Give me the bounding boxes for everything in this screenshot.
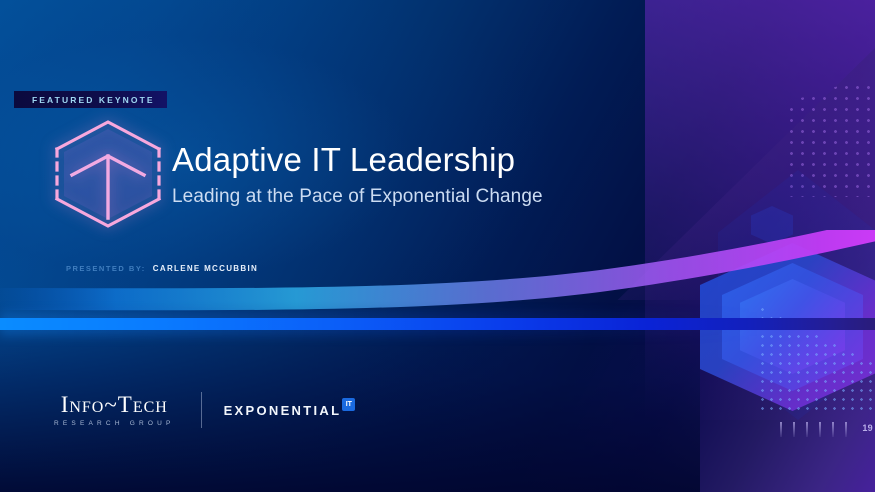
page-title: Adaptive IT Leadership xyxy=(172,143,642,178)
vertical-divider xyxy=(201,392,202,428)
horizontal-accent-band xyxy=(0,318,875,330)
presented-by-label: PRESENTED BY: xyxy=(66,264,146,273)
info-tech-logo-wordmark: Info~Tech xyxy=(61,393,168,416)
page-subtitle: Leading at the Pace of Exponential Chang… xyxy=(172,186,642,208)
tick-mark xyxy=(819,422,821,437)
info-tech-logo: Info~Tech RESEARCH GROUP xyxy=(54,393,175,427)
exponential-it-badge: IT xyxy=(342,398,355,411)
exponential-wordmark: EXPONENTIAL xyxy=(224,403,342,418)
presenter-name: CARLENE MCCUBBIN xyxy=(153,264,258,273)
tick-mark xyxy=(780,422,782,437)
presenter-line: PRESENTED BY: CARLENE MCCUBBIN xyxy=(66,264,258,273)
tick-mark xyxy=(832,422,834,437)
tick-marks xyxy=(780,422,847,437)
keynote-title-slide: #0a6ef0 0 FEATURED KEYNOTE xyxy=(0,0,875,492)
featured-keynote-badge: FEATURED KEYNOTE xyxy=(14,91,167,108)
footer-logos: Info~Tech RESEARCH GROUP EXPONENTIAL IT xyxy=(54,392,355,428)
badge-label: FEATURED KEYNOTE xyxy=(32,95,155,105)
page-number: 19 xyxy=(862,423,873,433)
exponential-it-logo: EXPONENTIAL IT xyxy=(224,403,356,418)
title-block: Adaptive IT Leadership Leading at the Pa… xyxy=(172,143,642,208)
info-tech-logo-tagline: RESEARCH GROUP xyxy=(54,420,175,427)
tick-mark xyxy=(845,422,847,437)
tick-mark xyxy=(793,422,795,437)
hexagon-up-arrow-icon xyxy=(47,119,169,229)
tick-mark xyxy=(806,422,808,437)
